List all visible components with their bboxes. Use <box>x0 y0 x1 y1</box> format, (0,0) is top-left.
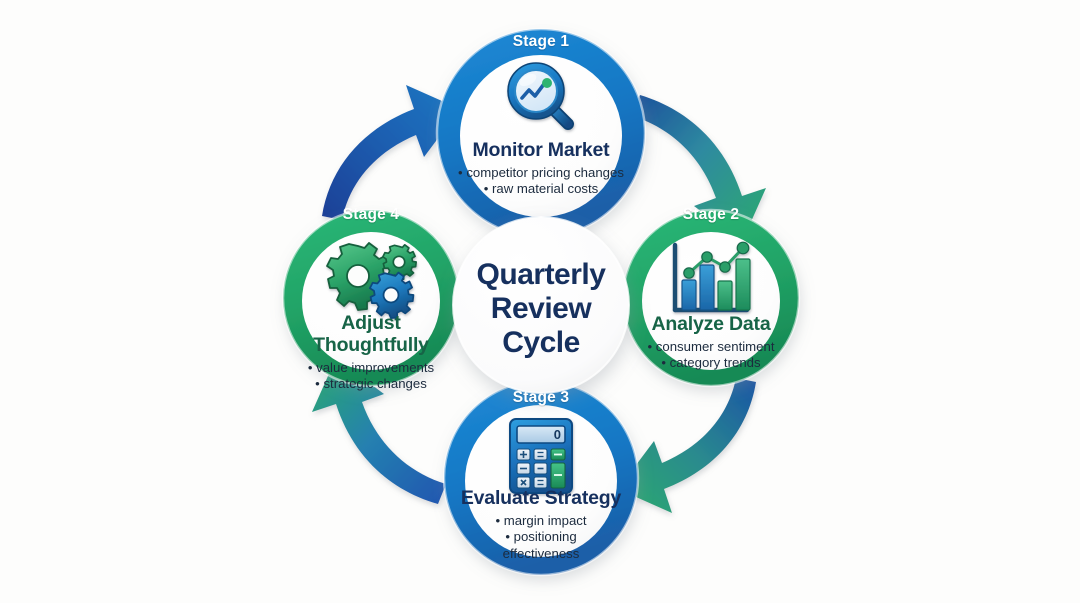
stage-4-label: Stage 4 <box>311 206 431 224</box>
stage-3-label: Stage 3 <box>481 389 601 407</box>
center-hub-text: Quarterly Review Cycle <box>441 258 641 360</box>
arrow-stage2-to-stage3 <box>618 378 756 513</box>
center-hub-line-3: Cycle <box>441 326 641 360</box>
stage-1-node[interactable] <box>437 29 645 237</box>
stage-1-label: Stage 1 <box>481 33 601 51</box>
stage-2-label: Stage 2 <box>651 206 771 224</box>
stage-3-node[interactable]: 0 <box>444 381 638 575</box>
calculator-display-value: 0 <box>554 427 561 442</box>
stage-4-node[interactable] <box>283 210 459 386</box>
center-hub-line-1: Quarterly <box>441 258 641 292</box>
stage-2-node[interactable] <box>623 210 799 386</box>
infographic-canvas: 0 <box>0 0 1080 603</box>
calculator-icon: 0 <box>510 419 572 493</box>
center-hub-line-2: Review <box>441 292 641 326</box>
